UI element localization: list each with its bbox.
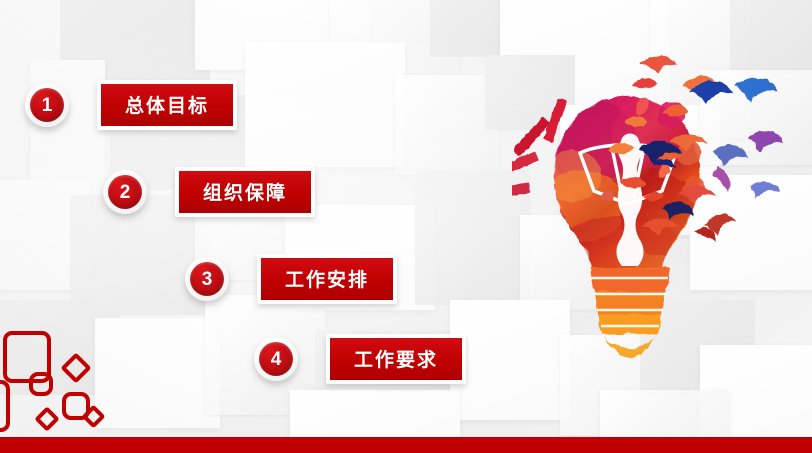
agenda-number-badge-1[interactable]: 1 (25, 83, 69, 127)
agenda-banner-2[interactable]: 组织保障 (175, 167, 315, 217)
agenda-number-4: 4 (259, 342, 293, 376)
agenda-item-1[interactable]: 1 总体目标 (25, 80, 237, 130)
agenda-label-2: 组织保障 (179, 171, 311, 213)
slide-canvas: 1 总体目标 2 组织保障 3 工作安排 4 (0, 0, 812, 453)
agenda-number-2: 2 (108, 175, 142, 209)
agenda-number-badge-3[interactable]: 3 (185, 257, 229, 301)
agenda-number-badge-4[interactable]: 4 (254, 337, 298, 381)
agenda-label-4: 工作要求 (330, 338, 462, 380)
agenda-number-badge-2[interactable]: 2 (103, 170, 147, 214)
agenda-banner-1[interactable]: 总体目标 (97, 80, 237, 130)
agenda-item-4[interactable]: 4 工作要求 (254, 334, 466, 384)
agenda-label-3: 工作安排 (261, 258, 393, 300)
agenda-list: 1 总体目标 2 组织保障 3 工作安排 4 (0, 0, 812, 453)
agenda-number-3: 3 (190, 262, 224, 296)
agenda-number-1: 1 (30, 88, 64, 122)
bottom-accent-bar (0, 437, 812, 453)
agenda-item-3[interactable]: 3 工作安排 (185, 254, 397, 304)
agenda-banner-4[interactable]: 工作要求 (326, 334, 466, 384)
agenda-item-2[interactable]: 2 组织保障 (103, 167, 315, 217)
agenda-banner-3[interactable]: 工作安排 (257, 254, 397, 304)
agenda-label-1: 总体目标 (101, 84, 233, 126)
